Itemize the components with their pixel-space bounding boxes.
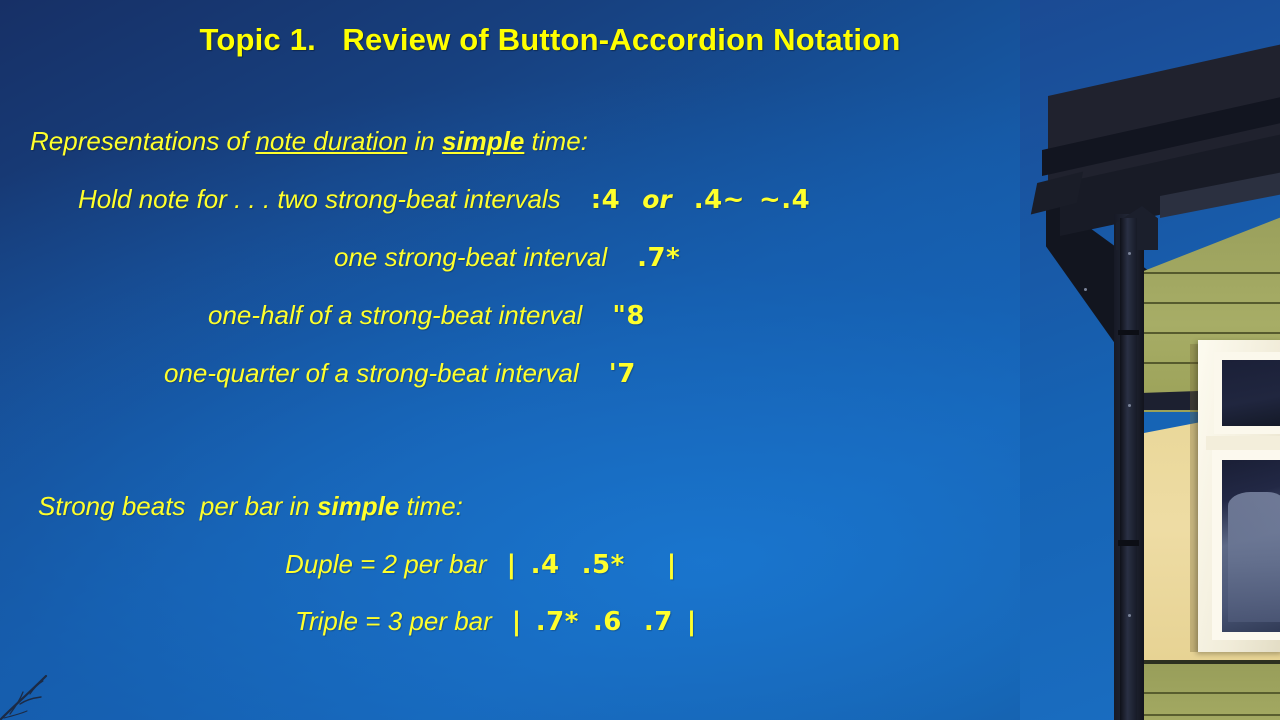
twig-branch [0, 630, 120, 720]
downspout-pipe [1120, 218, 1137, 720]
beats-row-triple-label: Triple = 3 per bar [295, 606, 492, 636]
duration-row-two: Hold note for . . . two strong-beat inte… [78, 184, 810, 215]
notation-duple-a: .4 [531, 550, 560, 580]
duration-row-one-label: one strong-beat interval [334, 242, 607, 272]
siding-lap-line [1144, 302, 1280, 304]
beats-row-duple: Duple = 2 per bar|.4.5*| [285, 549, 677, 580]
barline-open-triple: | [512, 607, 522, 637]
fastener-screw [1128, 252, 1131, 255]
page-title: Topic 1. Review of Button-Accordion Nota… [0, 22, 1100, 58]
notation-connector-or: or [642, 185, 672, 214]
duration-intro-part3: time: [524, 126, 588, 156]
window-upper-glass [1222, 360, 1280, 426]
notation-code-half: "8 [612, 301, 645, 331]
window-curtain-reflection [1228, 492, 1280, 622]
notation-code-two-a: :4 [591, 185, 621, 215]
fastener-screw [1084, 288, 1087, 291]
siding-lap-line [1144, 714, 1280, 716]
beats-intro-part1: Strong beats per bar in [38, 491, 317, 521]
duration-row-quarter: one-quarter of a strong-beat interval'7 [164, 358, 636, 389]
duration-intro-part1: Representations of [30, 126, 255, 156]
building-photo [1020, 0, 1280, 720]
duration-row-half: one-half of a strong-beat interval"8 [208, 300, 645, 331]
downspout-joint [1118, 540, 1139, 546]
duration-intro-part2: in [407, 126, 442, 156]
notation-duple-b: .5* [582, 550, 625, 580]
siding-lap-line [1144, 692, 1280, 694]
downspout-joint [1118, 330, 1139, 335]
siding-lap-line [1144, 332, 1280, 334]
fastener-screw [1128, 404, 1131, 407]
window-meeting-rail [1206, 436, 1280, 450]
beats-row-triple: Triple = 3 per bar|.7*.6.7| [295, 606, 697, 637]
beats-intro-simple: simple [317, 491, 399, 521]
slide-canvas: Topic 1. Review of Button-Accordion Nota… [0, 0, 1280, 720]
notation-code-one: .7* [637, 243, 680, 273]
notation-code-two-b: .4~ [694, 185, 745, 215]
barline-close-triple: | [687, 607, 697, 637]
notation-triple-c: .7 [644, 607, 673, 637]
barline-open-duple: | [507, 550, 517, 580]
fastener-screw [1128, 614, 1131, 617]
notation-code-quarter: '7 [609, 359, 636, 389]
notation-code-two-c: ~.4 [759, 185, 810, 215]
duration-intro-simple: simple [442, 126, 524, 156]
beats-intro-line: Strong beats per bar in simple time: [38, 491, 463, 522]
notation-triple-a: .7* [536, 607, 579, 637]
duration-intro-line: Representations of note duration in simp… [30, 126, 588, 157]
notation-triple-b: .6 [593, 607, 622, 637]
barline-close-duple: | [667, 550, 677, 580]
duration-row-half-label: one-half of a strong-beat interval [208, 300, 582, 330]
duration-row-one: one strong-beat interval.7* [334, 242, 680, 273]
duration-intro-underlined: note duration [255, 126, 407, 156]
duration-row-two-label: Hold note for . . . two strong-beat inte… [78, 184, 561, 214]
beats-intro-part2: time: [399, 491, 463, 521]
beats-row-duple-label: Duple = 2 per bar [285, 549, 487, 579]
siding-lap-line [1144, 272, 1280, 274]
duration-row-quarter-label: one-quarter of a strong-beat interval [164, 358, 579, 388]
